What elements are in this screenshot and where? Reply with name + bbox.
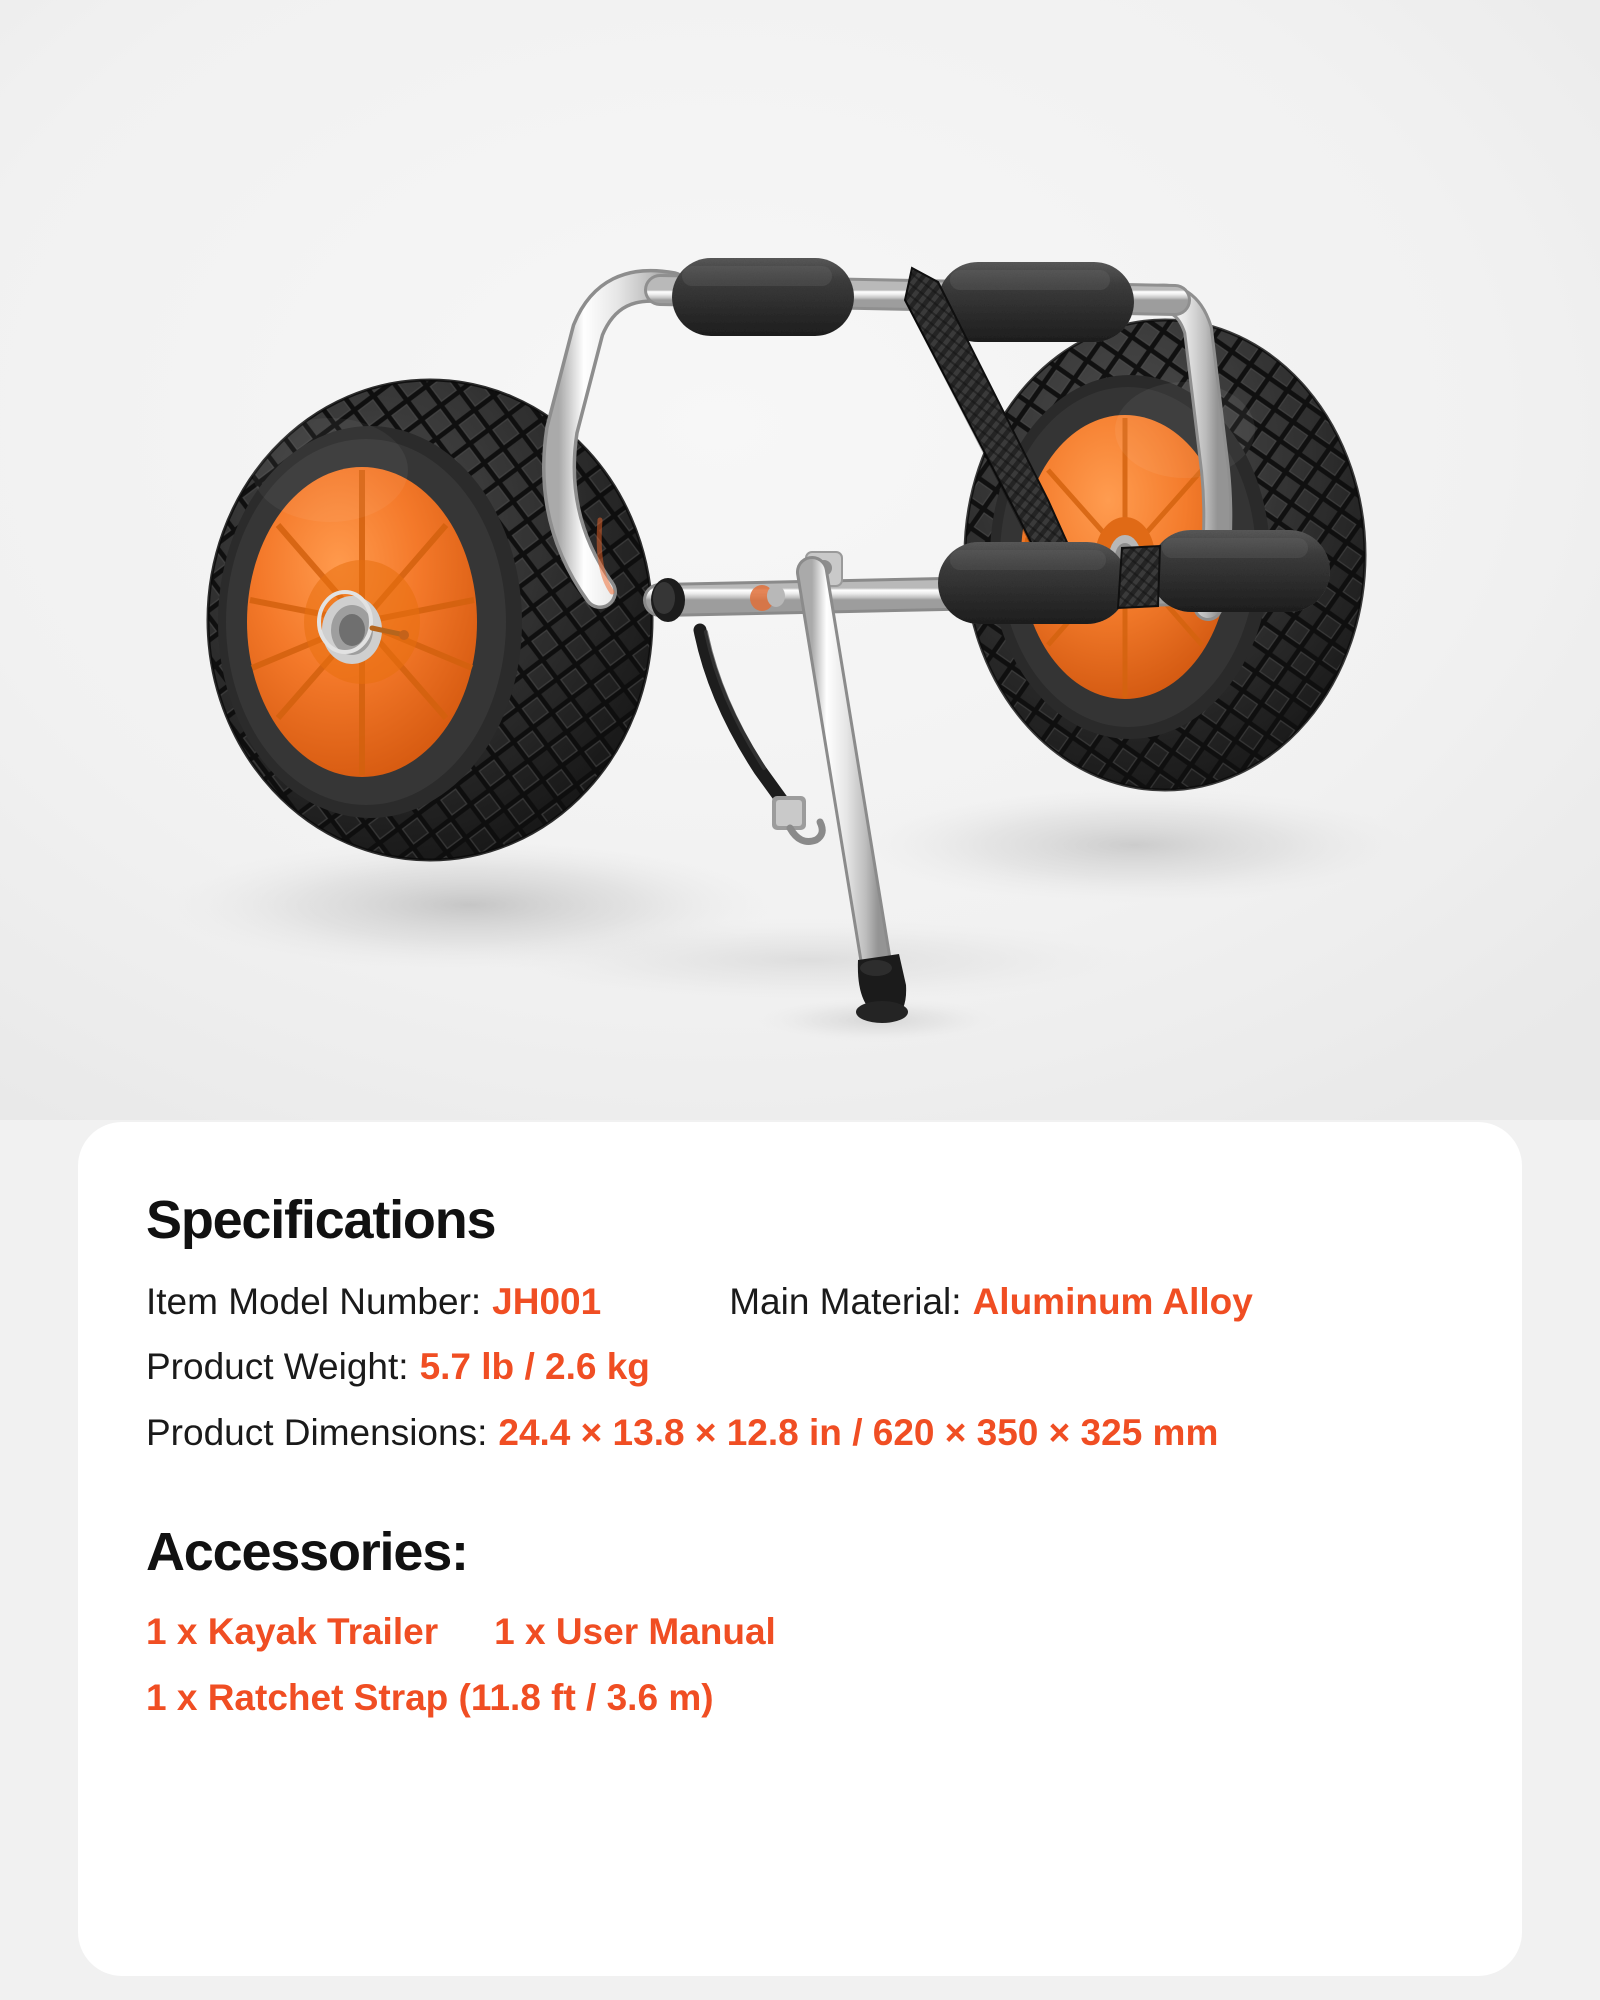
specifications-list: Item Model Number: JH001 Main Material: … [146,1275,1454,1460]
accessory-item-ratchet-strap: 1 x Ratchet Strap (11.8 ft / 3.6 m) [146,1672,714,1724]
foam-pad-lower-left [938,542,1128,624]
accessories-heading: Accessories: [146,1524,1454,1581]
spec-item-model-number: Item Model Number: JH001 [146,1275,601,1329]
spec-item-main-material: Main Material: Aluminum Alloy [729,1275,1253,1329]
product-image-area [0,0,1600,1120]
spec-value-product-dimensions: 24.4 × 13.8 × 12.8 in / 620 × 350 × 325 … [498,1406,1218,1460]
foam-pad-upper-right [938,262,1134,342]
ratchet-strap-lower [1118,546,1160,608]
spec-label-product-weight: Product Weight: [146,1340,409,1394]
kayak-cart-illustration [0,0,1600,1120]
specifications-card: Specifications Item Model Number: JH001 … [78,1122,1522,1976]
spec-item-product-dimensions: Product Dimensions: 24.4 × 13.8 × 12.8 i… [146,1406,1218,1460]
spec-value-product-weight: 5.7 lb / 2.6 kg [420,1340,650,1394]
accessory-item-user-manual: 1 x User Manual [494,1606,776,1658]
spec-label-model-number: Item Model Number: [146,1275,481,1329]
spec-label-main-material: Main Material: [729,1275,961,1329]
accessory-row: 1 x Kayak Trailer 1 x User Manual [146,1606,1454,1658]
spec-label-product-dimensions: Product Dimensions: [146,1406,487,1460]
foam-pad-lower-right [1150,530,1330,612]
spec-row: Product Weight: 5.7 lb / 2.6 kg [146,1340,1454,1394]
spec-row: Item Model Number: JH001 Main Material: … [146,1275,1454,1329]
accessories-list: 1 x Kayak Trailer 1 x User Manual 1 x Ra… [146,1606,1454,1724]
spec-row: Product Dimensions: 24.4 × 13.8 × 12.8 i… [146,1406,1454,1460]
spec-value-main-material: Aluminum Alloy [973,1275,1253,1329]
spec-value-model-number: JH001 [492,1275,601,1329]
specifications-heading: Specifications [146,1192,1454,1249]
foam-pad-upper-left [672,258,854,336]
accessories-section: Accessories: 1 x Kayak Trailer 1 x User … [146,1524,1454,1724]
kickstand-foot [856,954,908,1023]
accessory-item-kayak-trailer: 1 x Kayak Trailer [146,1606,438,1658]
spec-item-product-weight: Product Weight: 5.7 lb / 2.6 kg [146,1340,650,1394]
accessory-row: 1 x Ratchet Strap (11.8 ft / 3.6 m) [146,1672,1454,1724]
